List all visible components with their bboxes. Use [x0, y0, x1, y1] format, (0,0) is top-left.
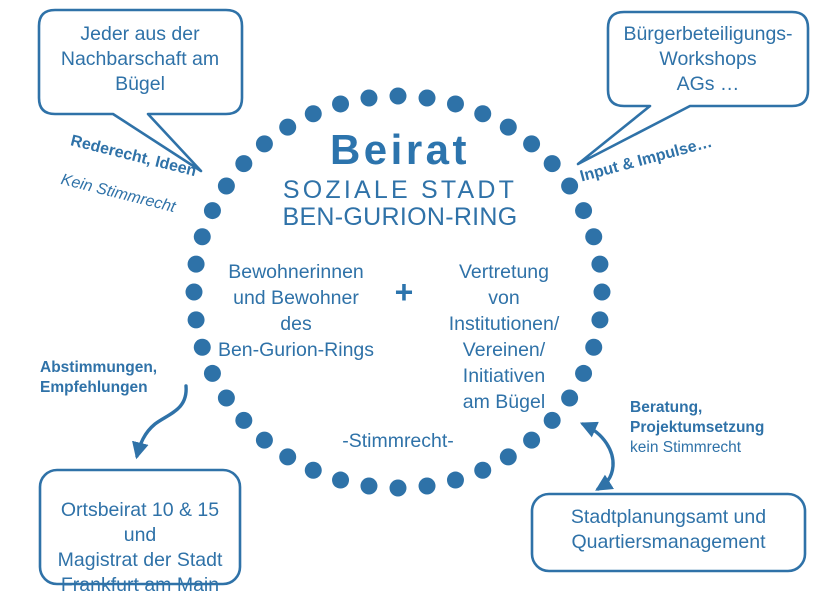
ring-dot	[332, 95, 349, 112]
ring-dot	[523, 432, 540, 449]
ring-dot	[390, 480, 407, 497]
ring-dot	[591, 311, 608, 328]
ring-dot	[218, 389, 235, 406]
center-footer-note: -Stimmrecht-	[298, 430, 498, 453]
box-bottom-right-text: Stadtplanungsamt und Quartiersmanagement	[533, 505, 804, 555]
page-subtitle-1: SOZIALE STADT	[198, 176, 602, 205]
ring-dot	[188, 311, 205, 328]
ring-dot	[235, 412, 252, 429]
ring-dot	[390, 88, 407, 105]
diagram-canvas: Jeder aus der Nachbarschaft am Bügel Bür…	[0, 0, 820, 600]
box-bottom-left-text: Ortsbeirat 10 & 15 und Magistrat der Sta…	[41, 498, 239, 598]
ring-dot	[447, 95, 464, 112]
speech-bubble-top-left-text: Jeder aus der Nachbarschaft am Bügel	[40, 22, 240, 97]
ring-dot	[447, 472, 464, 489]
ring-dot	[419, 478, 436, 495]
caption-bottom-left: Abstimmungen, Empfehlungen	[40, 358, 190, 398]
ring-dot	[594, 284, 611, 301]
page-title: Beirat	[198, 126, 602, 174]
ring-dot	[419, 89, 436, 106]
ring-dot	[188, 256, 205, 273]
ring-dot	[360, 478, 377, 495]
plus-icon: +	[386, 276, 422, 308]
ring-dot	[305, 105, 322, 122]
page-subtitle-2: BEN-GURION-RING	[198, 203, 602, 232]
ring-dot	[474, 105, 491, 122]
ring-dot	[279, 448, 296, 465]
ring-dot	[474, 462, 491, 479]
center-column-right: Vertretung von Institutionen/ Vereinen/ …	[424, 260, 584, 416]
ring-dot	[186, 284, 203, 301]
ring-dot	[204, 365, 221, 382]
ring-dot	[500, 448, 517, 465]
caption-bottom-right: Beratung, Projektumsetzung kein Stimmrec…	[630, 398, 815, 458]
caption-bottom-right-light: kein Stimmrecht	[630, 438, 815, 458]
ring-dot	[585, 339, 602, 356]
speech-bubble-top-right-text: Bürgerbeteiligungs- Workshops AGs …	[608, 22, 808, 97]
ring-dot	[360, 89, 377, 106]
ring-dot	[256, 432, 273, 449]
caption-bottom-right-bold: Beratung, Projektumsetzung	[630, 398, 815, 438]
ring-dot	[332, 472, 349, 489]
ring-dot	[305, 462, 322, 479]
ring-dot	[591, 256, 608, 273]
center-column-left: Bewohnerinnen und Bewohner des Ben-Gurio…	[206, 260, 386, 364]
arrow-bottom-right	[583, 424, 613, 489]
